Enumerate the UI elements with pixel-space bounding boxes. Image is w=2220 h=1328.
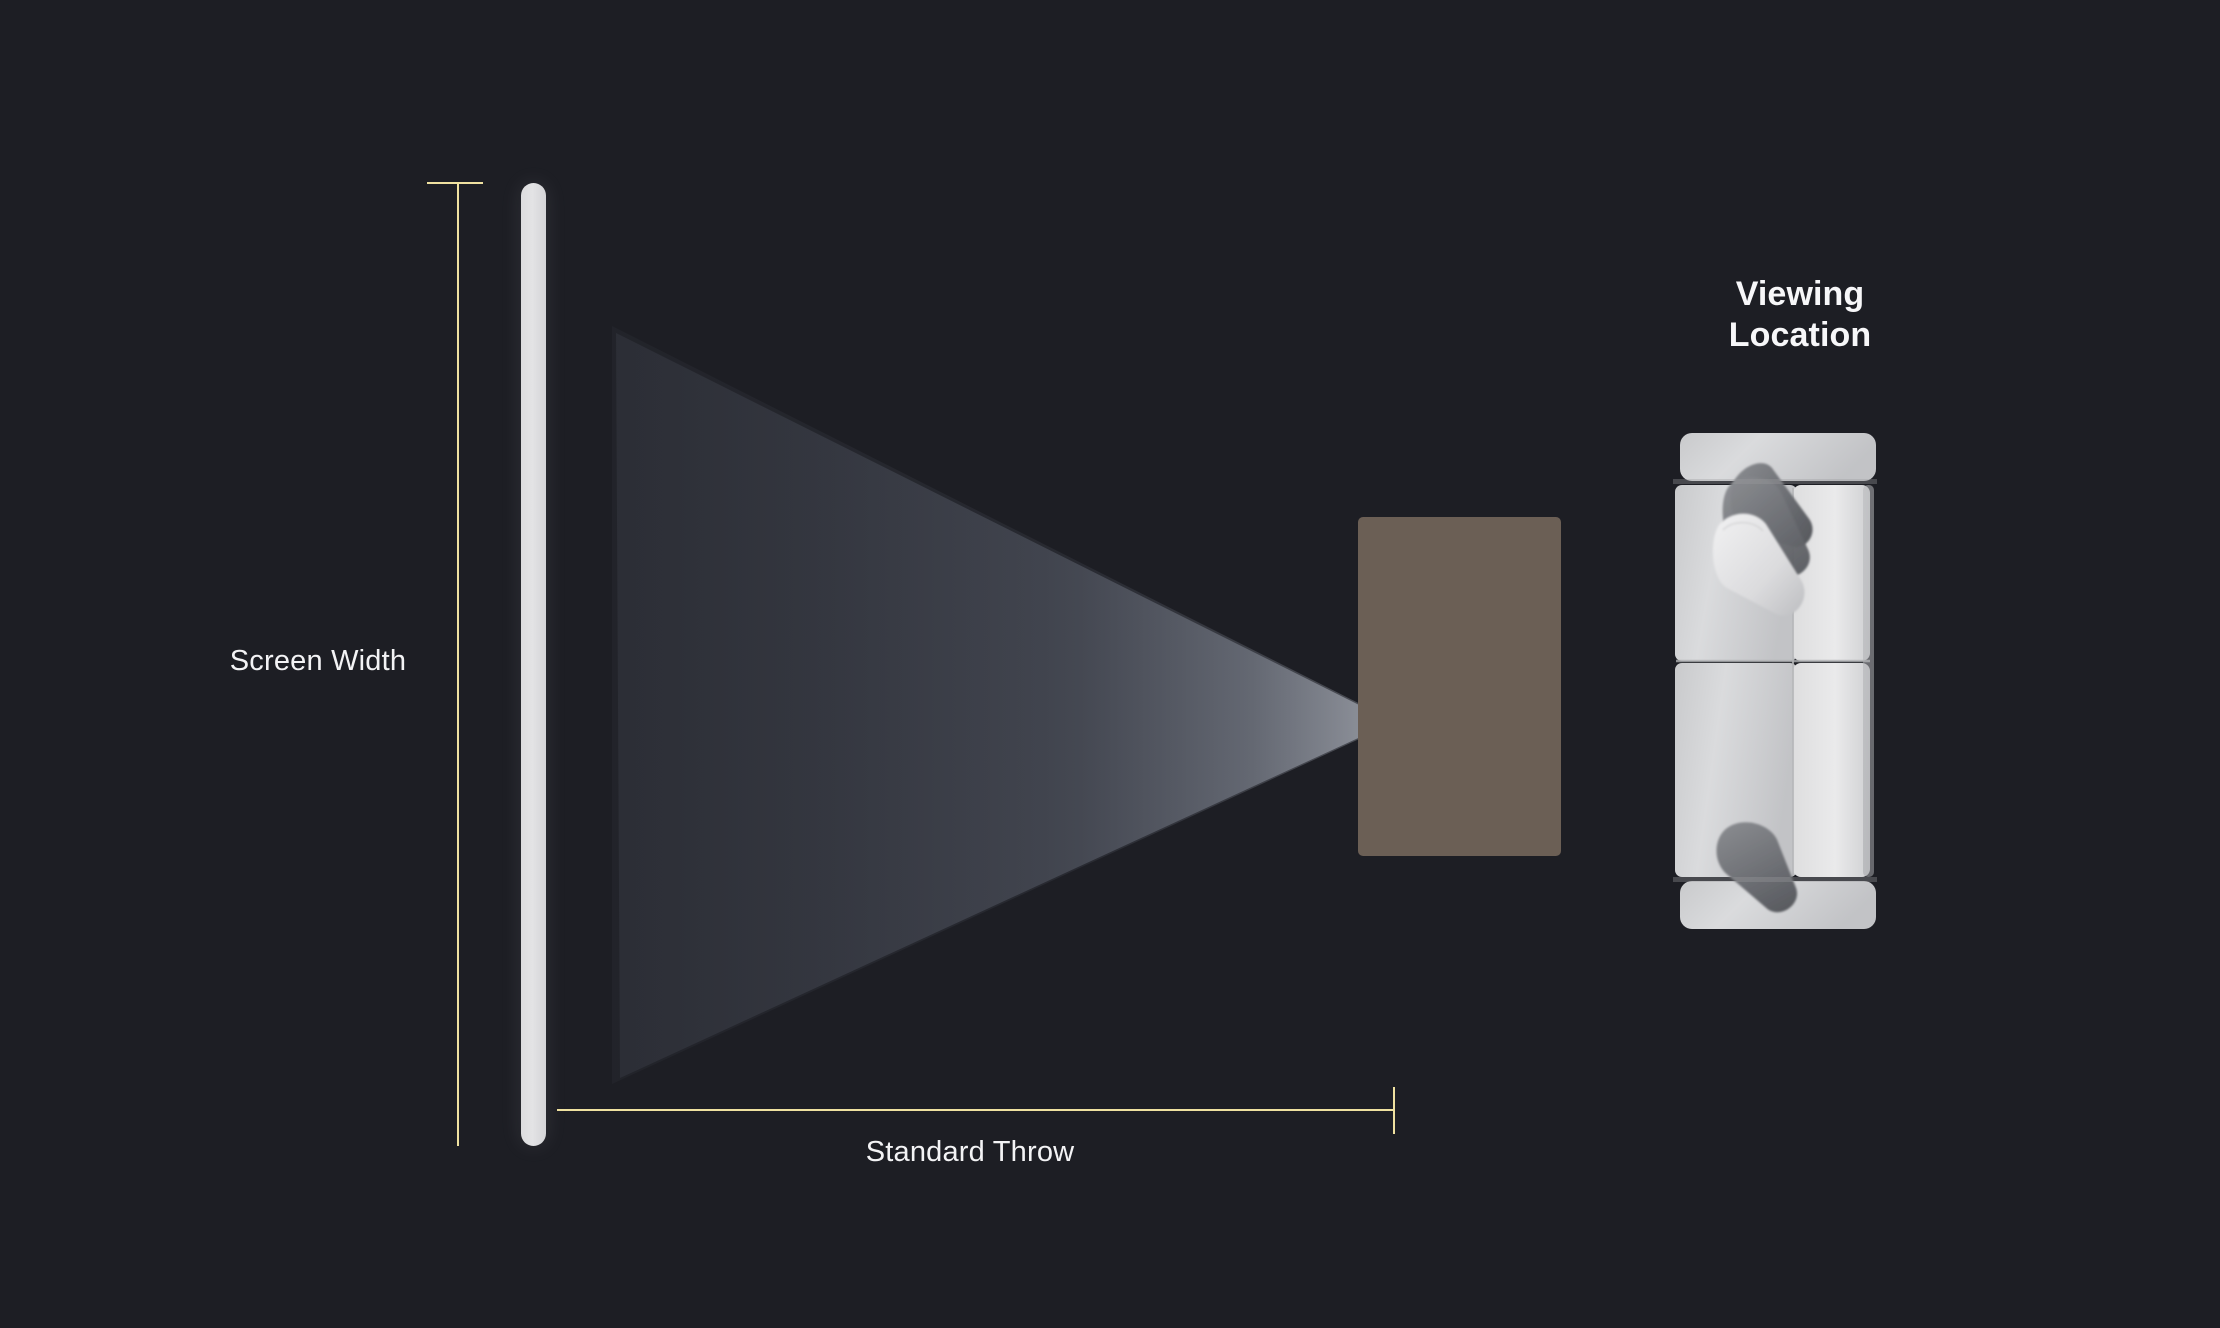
diagram-canvas: Screen Width Standard Throw Viewing Loca… bbox=[0, 0, 2220, 1328]
viewing-location-line-2: Location bbox=[1640, 315, 1960, 356]
standard-throw-right-tick bbox=[1393, 1087, 1395, 1134]
screen-width-top-tick bbox=[427, 182, 483, 184]
coffee-table bbox=[1358, 517, 1561, 856]
sofa-top-view bbox=[1673, 430, 1893, 932]
viewing-location-line-1: Viewing bbox=[1640, 274, 1960, 315]
screen-width-label: Screen Width bbox=[213, 645, 423, 678]
standard-throw-label: Standard Throw bbox=[770, 1136, 1170, 1169]
standard-throw-dimension-line bbox=[557, 1109, 1395, 1111]
screen-width-dimension-line bbox=[457, 183, 459, 1146]
viewing-location-label: Viewing Location bbox=[1640, 274, 1960, 356]
projection-screen bbox=[521, 183, 546, 1146]
